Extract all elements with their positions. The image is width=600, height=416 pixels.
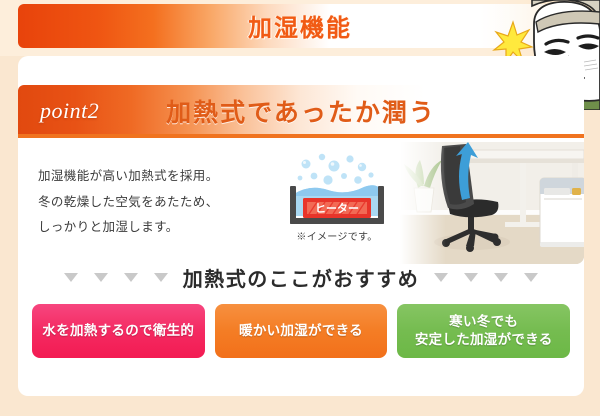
- benefit-button-row: 水を加熱するので衛生的 暖かい加湿ができる 寒い冬でも 安定した加湿ができる: [32, 304, 570, 358]
- description-text: 加湿機能が高い加熱式を採用。 冬の乾燥した空気をあたため、 しっかりと加湿します…: [38, 164, 253, 241]
- triangle-marker-icon: [124, 273, 138, 282]
- heater-label: ヒーター: [315, 202, 359, 215]
- page-header: 加湿機能: [0, 0, 600, 56]
- benefit-button-winter-stable-label: 寒い冬でも 安定した加湿ができる: [415, 313, 553, 349]
- benefit-button-hygienic[interactable]: 水を加熱するので衛生的: [32, 304, 205, 358]
- description-line-1: 加湿機能が高い加熱式を採用。: [38, 164, 253, 190]
- triangle-marker-icon: [494, 273, 508, 282]
- benefit-button-winter-stable-line2: 安定した加湿ができる: [415, 332, 553, 347]
- content-card: point2 加熱式であったか潤う 加湿機能が高い加熱式を採用。 冬の乾燥した空…: [18, 56, 584, 396]
- diagram-caption: ※イメージです。: [276, 228, 398, 243]
- page-title: 加湿機能: [0, 8, 600, 43]
- advertisement-page: 加湿機能: [0, 0, 600, 416]
- point-banner: point2 加熱式であったか潤う: [18, 85, 584, 138]
- triangle-marker-icon: [154, 273, 168, 282]
- benefit-button-hygienic-label: 水を加熱するので衛生的: [42, 322, 194, 340]
- recommendation-heading: 加熱式のここがおすすめ: [183, 263, 420, 292]
- point-banner-title: 加熱式であったか潤う: [18, 93, 584, 129]
- triangle-marker-icon: [64, 273, 78, 282]
- triangle-marker-icon: [94, 273, 108, 282]
- triangle-marker-icon: [524, 273, 538, 282]
- benefit-button-warm-humidity-label: 暖かい加湿ができる: [239, 322, 363, 340]
- heater-diagram-graphic: ヒーター: [276, 150, 398, 228]
- benefit-button-warm-humidity[interactable]: 暖かい加湿ができる: [215, 304, 388, 358]
- triangle-marker-icon: [434, 273, 448, 282]
- benefit-button-winter-stable-line1: 寒い冬でも: [449, 314, 518, 329]
- description-line-2: 冬の乾燥した空気をあたため、: [38, 190, 253, 216]
- steam-bubbles-icon: [298, 154, 374, 185]
- room-photo: [400, 142, 584, 264]
- feature-description-area: 加湿機能が高い加熱式を採用。 冬の乾燥した空気をあたため、 しっかりと加湿します…: [18, 142, 584, 262]
- heater-diagram: ヒーター ※イメージです。: [276, 150, 398, 250]
- triangle-marker-icon: [464, 273, 478, 282]
- description-line-3: しっかりと加湿します。: [38, 215, 253, 241]
- benefit-button-winter-stable[interactable]: 寒い冬でも 安定した加湿ができる: [397, 304, 570, 358]
- recommendation-heading-row: 加熱式のここがおすすめ: [18, 260, 584, 294]
